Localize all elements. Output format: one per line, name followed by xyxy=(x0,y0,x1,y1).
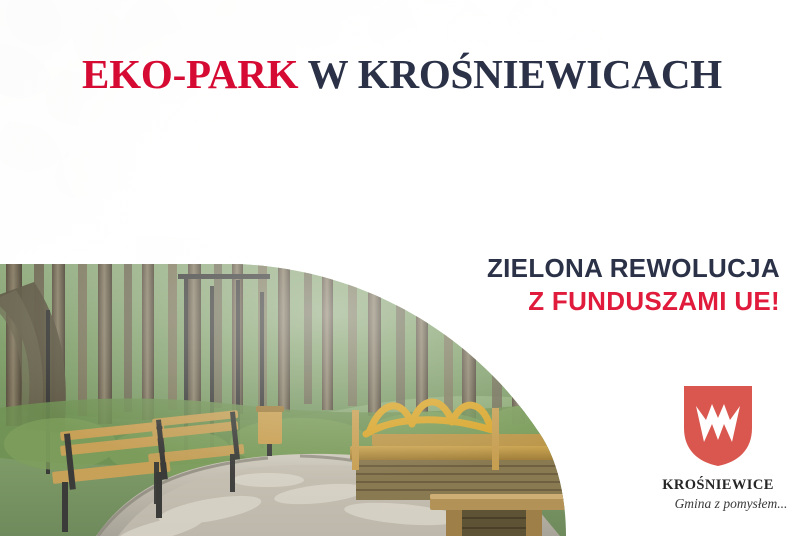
subheadline-line-1: ZIELONA REWOLUCJA xyxy=(487,252,780,285)
headline-eko-park: EKO-PARK xyxy=(82,51,298,97)
coat-of-arms-shield-icon xyxy=(682,384,754,468)
poster-headline: EKO-PARK W KROŚNIEWICACH xyxy=(0,53,804,96)
poster-subheadline: ZIELONA REWOLUCJA Z FUNDUSZAMI UE! xyxy=(487,252,780,319)
logo-municipality-name: KROŚNIEWICE xyxy=(640,477,796,494)
logo-tagline: Gmina z pomysłem... xyxy=(640,496,796,512)
poster-canvas: EKO-PARK W KROŚNIEWICACH ZIELONA REWOLUC… xyxy=(0,0,804,536)
subheadline-line-2: Z FUNDUSZAMI UE! xyxy=(487,285,780,318)
haze-block-right-upper xyxy=(556,132,684,230)
krosniewice-logo: KROŚNIEWICE Gmina z pomysłem... xyxy=(640,384,796,512)
headline-w-krosniewicach: W KROŚNIEWICACH xyxy=(298,51,722,97)
